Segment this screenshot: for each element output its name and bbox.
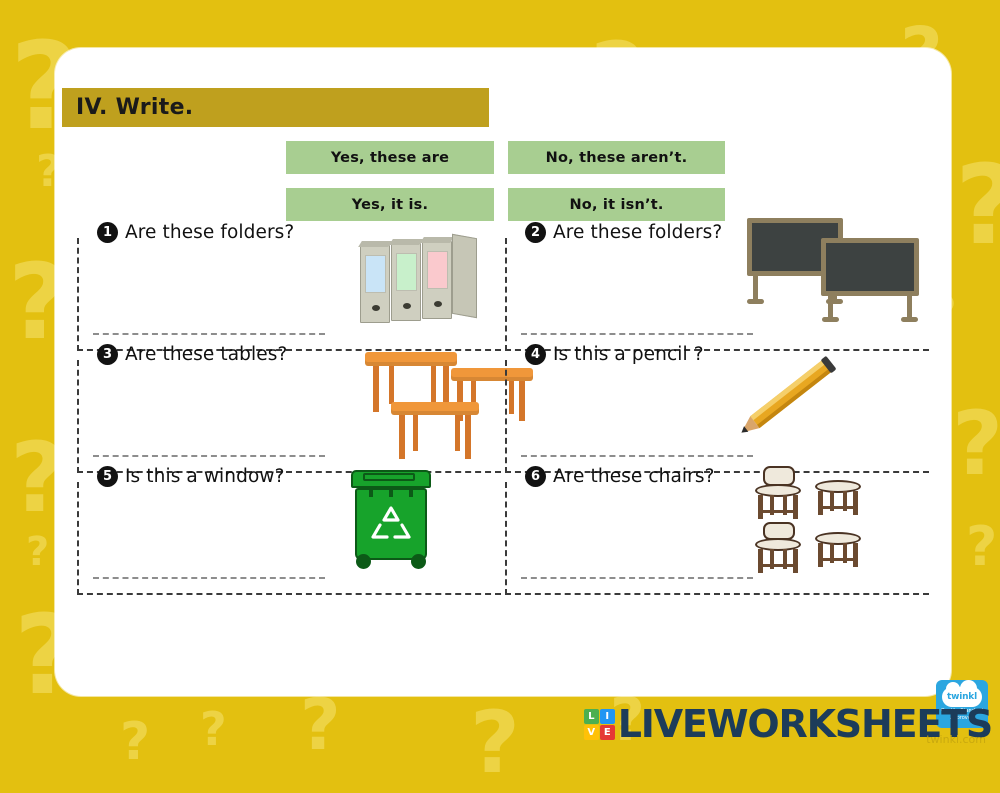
question-text: Are these chairs? — [553, 466, 715, 487]
brand-block-i: I — [600, 709, 615, 724]
question-item-5: 5 Is this a window? — [77, 482, 501, 595]
answer-chip-label: No, these aren’t. — [546, 150, 688, 166]
question-number-badge: 5 — [97, 466, 118, 487]
question-item-3: 3 Are these tables? — [77, 360, 501, 473]
worksheet-card: IV. Write. Yes, these are No, these aren… — [55, 48, 951, 696]
answer-chip-label: Yes, it is. — [352, 197, 428, 213]
question-header: 6 Are these chairs? — [525, 466, 715, 487]
question-item-2: 2 Are these folders? — [505, 238, 929, 351]
ring-binders-illustration — [360, 233, 480, 325]
answer-chip-yes-these-are[interactable]: Yes, these are — [286, 141, 494, 174]
tables-illustration — [343, 348, 523, 460]
question-number-badge: 2 — [525, 222, 546, 243]
brand-block-e: E — [600, 725, 615, 740]
pencil-illustration — [723, 351, 863, 435]
question-text: Are these folders? — [125, 222, 294, 243]
brand-block-v: V — [584, 725, 599, 740]
liveworksheets-blocks-icon: L I V E — [584, 709, 615, 740]
answer-bank: Yes, these are No, these aren’t. Yes, it… — [55, 141, 951, 224]
question-header: 4 Is this a pencil ? — [525, 344, 704, 365]
recycle-bin-illustration — [341, 470, 445, 578]
answer-input-line[interactable] — [521, 577, 753, 579]
question-header: 5 Is this a window? — [97, 466, 285, 487]
question-text: Is this a pencil ? — [553, 344, 704, 365]
question-number-badge: 6 — [525, 466, 546, 487]
question-text: Is this a window? — [125, 466, 285, 487]
question-number-badge: 4 — [525, 344, 546, 365]
page-title: IV. Write. — [62, 95, 193, 120]
answer-input-line[interactable] — [521, 333, 753, 335]
question-number-badge: 3 — [97, 344, 118, 365]
answer-chip-no-it-isnt[interactable]: No, it isn’t. — [508, 188, 725, 221]
question-mark-decoration: ? — [955, 150, 1000, 260]
answer-chip-label: No, it isn’t. — [569, 197, 663, 213]
question-item-1: 1 Are these folders? — [77, 238, 501, 351]
question-mark-decoration: ? — [952, 400, 1000, 488]
answer-input-line[interactable] — [93, 455, 325, 457]
answer-chip-label: Yes, these are — [331, 150, 449, 166]
question-mark-decoration: ? — [26, 532, 49, 572]
answer-chip-no-these-arent[interactable]: No, these aren’t. — [508, 141, 725, 174]
question-grid: 1 Are these folders? — [77, 238, 931, 603]
answer-input-line[interactable] — [93, 333, 325, 335]
blackboards-illustration — [745, 216, 925, 326]
question-header: 1 Are these folders? — [97, 222, 294, 243]
answer-chip-yes-it-is[interactable]: Yes, it is. — [286, 188, 494, 221]
twinkl-wordmark: twinkl — [947, 692, 977, 702]
question-item-6: 6 Are these chairs? — [505, 482, 929, 595]
section-header: IV. Write. — [62, 88, 489, 127]
question-header: 3 Are these tables? — [97, 344, 287, 365]
question-text: Are these tables? — [125, 344, 287, 365]
question-mark-decoration: ? — [966, 520, 997, 574]
twinkl-watermark: twinkl.com — [926, 733, 986, 746]
question-text: Are these folders? — [553, 222, 722, 243]
liveworksheets-brand-bar: L I V E LIVEWORKSHEETS — [0, 698, 1000, 750]
answer-input-line[interactable] — [93, 577, 325, 579]
answer-input-line[interactable] — [521, 455, 753, 457]
stools-illustration — [749, 466, 879, 576]
question-header: 2 Are these folders? — [525, 222, 722, 243]
question-item-4: 4 Is this a pencil ? — [505, 360, 929, 473]
brand-block-l: L — [584, 709, 599, 724]
question-number-badge: 1 — [97, 222, 118, 243]
